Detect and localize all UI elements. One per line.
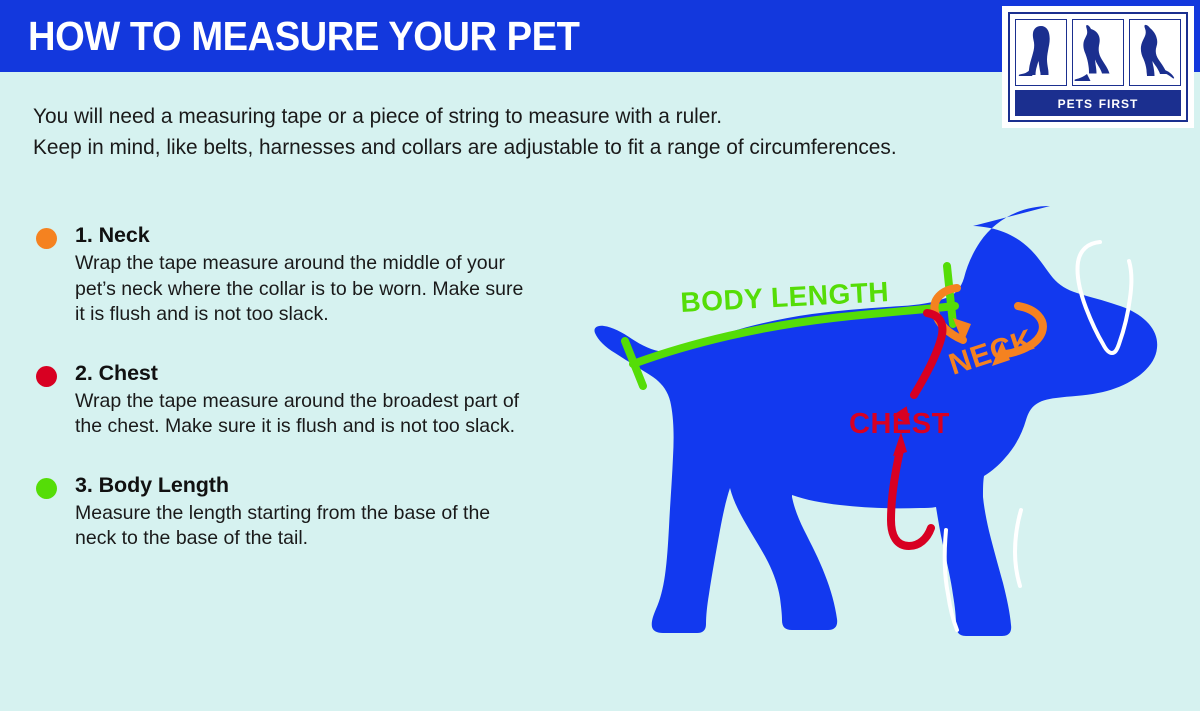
intro-line-2: Keep in mind, like belts, harnesses and … <box>33 132 964 163</box>
logo-panel-howling-dog <box>1072 19 1124 86</box>
intro-line-1: You will need a measuring tape or a piec… <box>33 101 964 132</box>
step-body-body-length: Measure the length starting from the bas… <box>75 501 535 552</box>
step-title-body-length: 3. Body Length <box>75 472 533 499</box>
intro-paragraph: You will need a measuring tape or a piec… <box>33 101 993 163</box>
page-title: HOW TO MEASURE YOUR PET <box>28 12 579 60</box>
dog-measurement-diagram: BODY LENGTH NECK CHEST <box>505 170 1200 710</box>
step-bullet-body-length <box>36 478 57 499</box>
howling-dog-silhouette-icon <box>1073 20 1123 85</box>
sitting-dog-silhouette-icon <box>1016 20 1066 85</box>
logo-panel-sitting-dog <box>1015 19 1067 86</box>
logo-panel-standing-dog <box>1129 19 1181 86</box>
standing-dog-silhouette-icon <box>1130 20 1180 85</box>
step-title-neck: 1. Neck <box>75 222 533 249</box>
brand-logo: PETS FIRST <box>1002 6 1194 128</box>
measurement-steps-list: 1. Neck Wrap the tape measure around the… <box>33 222 533 584</box>
logo-frame: PETS FIRST <box>1008 12 1188 122</box>
step-item-neck: 1. Neck Wrap the tape measure around the… <box>33 222 533 328</box>
step-body-neck: Wrap the tape measure around the middle … <box>75 251 535 328</box>
step-item-chest: 2. Chest Wrap the tape measure around th… <box>33 360 533 440</box>
logo-panels <box>1015 19 1181 86</box>
step-bullet-chest <box>36 366 57 387</box>
logo-wordmark: PETS FIRST <box>1015 90 1181 116</box>
step-bullet-neck <box>36 228 57 249</box>
step-title-chest: 2. Chest <box>75 360 533 387</box>
step-item-body-length: 3. Body Length Measure the length starti… <box>33 472 533 552</box>
step-body-chest: Wrap the tape measure around the broades… <box>75 389 535 440</box>
chest-label: CHEST <box>849 408 950 440</box>
